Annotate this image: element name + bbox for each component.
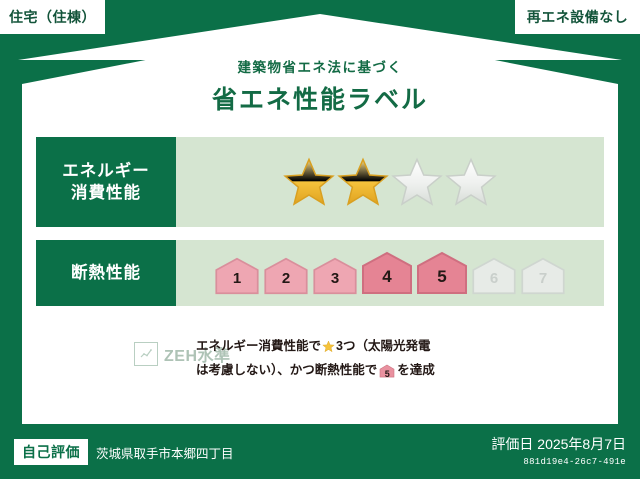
star-rating xyxy=(283,156,497,208)
energy-consumption-row: エネルギー 消費性能 xyxy=(36,137,604,227)
house-shape-icon xyxy=(361,251,413,295)
energy-label-line2: 消費性能 xyxy=(71,182,141,204)
desc-star-count: 3つ（太陽光発電 xyxy=(336,339,430,353)
renewable-energy-tag: 再エネ設備なし xyxy=(515,0,640,34)
header-titles: 建築物省エネ法に基づく 省エネ性能ラベル xyxy=(0,56,640,116)
achievement-description: エネルギー消費性能で3つ（太陽光発電は考慮しない）、かつ断熱性能で5を達成 xyxy=(196,336,435,384)
zeh-chart-icon xyxy=(134,342,158,366)
insulation-grade-badge: 4 xyxy=(361,251,413,295)
zeh-section: ZEH水準 エネルギー消費性能で3つ（太陽光発電は考慮しない）、かつ断熱性能で5… xyxy=(36,336,604,384)
zeh-standard-block: ZEH水準 xyxy=(36,336,188,366)
insulation-grade-badge: 5 xyxy=(416,251,468,295)
house-shape-icon xyxy=(312,257,358,295)
building-type-tag: 住宅（住棟） xyxy=(0,0,105,34)
star-icon-empty xyxy=(391,156,443,208)
star-icon-filled xyxy=(283,156,335,208)
inline-grade-badge: 5 xyxy=(379,364,395,385)
insulation-grade-scale: 1234567 xyxy=(214,251,566,295)
property-address: 茨城県取手市本郷四丁目 xyxy=(96,443,234,462)
evaluation-date: 評価日 2025年8月7日 xyxy=(491,434,626,454)
page-title: 省エネ性能ラベル xyxy=(0,80,640,116)
insulation-grade-badge: 2 xyxy=(263,257,309,295)
insulation-rating-body: 1234567 xyxy=(176,240,604,306)
footer-right: 評価日 2025年8月7日 881d19e4-26c7-491e xyxy=(491,434,626,467)
house-shape-icon xyxy=(214,257,260,295)
house-shape-icon xyxy=(416,251,468,295)
star-icon-filled xyxy=(337,156,389,208)
insulation-performance-label: 断熱性能 xyxy=(36,240,176,306)
star-icon-empty xyxy=(445,156,497,208)
house-shape-icon xyxy=(520,257,566,295)
energy-rating-body xyxy=(176,137,604,227)
footer-left: 自己評価 茨城県取手市本郷四丁目 xyxy=(14,439,234,465)
desc-part-1: エネルギー消費性能で xyxy=(196,339,321,353)
inline-star-icon xyxy=(322,339,335,360)
evaluation-id: 881d19e4-26c7-491e xyxy=(491,457,626,467)
insulation-performance-row: 断熱性能 1234567 xyxy=(36,240,604,306)
insulation-grade-badge: 6 xyxy=(471,257,517,295)
header-subtitle: 建築物省エネ法に基づく xyxy=(0,56,640,76)
insulation-grade-badge: 7 xyxy=(520,257,566,295)
energy-label-line1: エネルギー xyxy=(62,160,150,182)
insulation-grade-badge: 1 xyxy=(214,257,260,295)
energy-performance-label: 住宅（住棟） 再エネ設備なし 建築物省エネ法に基づく 省エネ性能ラベル エネルギ… xyxy=(0,0,640,479)
energy-consumption-label: エネルギー 消費性能 xyxy=(36,137,176,227)
self-evaluation-badge: 自己評価 xyxy=(14,439,88,465)
desc-part-3: を達成 xyxy=(397,363,435,377)
house-shape-icon xyxy=(263,257,309,295)
desc-part-2: は考慮しない）、かつ断熱性能で xyxy=(196,363,377,377)
insulation-grade-badge: 3 xyxy=(312,257,358,295)
house-shape-icon xyxy=(471,257,517,295)
insulation-label-text: 断熱性能 xyxy=(71,262,141,284)
inline-grade-value: 5 xyxy=(379,367,395,382)
